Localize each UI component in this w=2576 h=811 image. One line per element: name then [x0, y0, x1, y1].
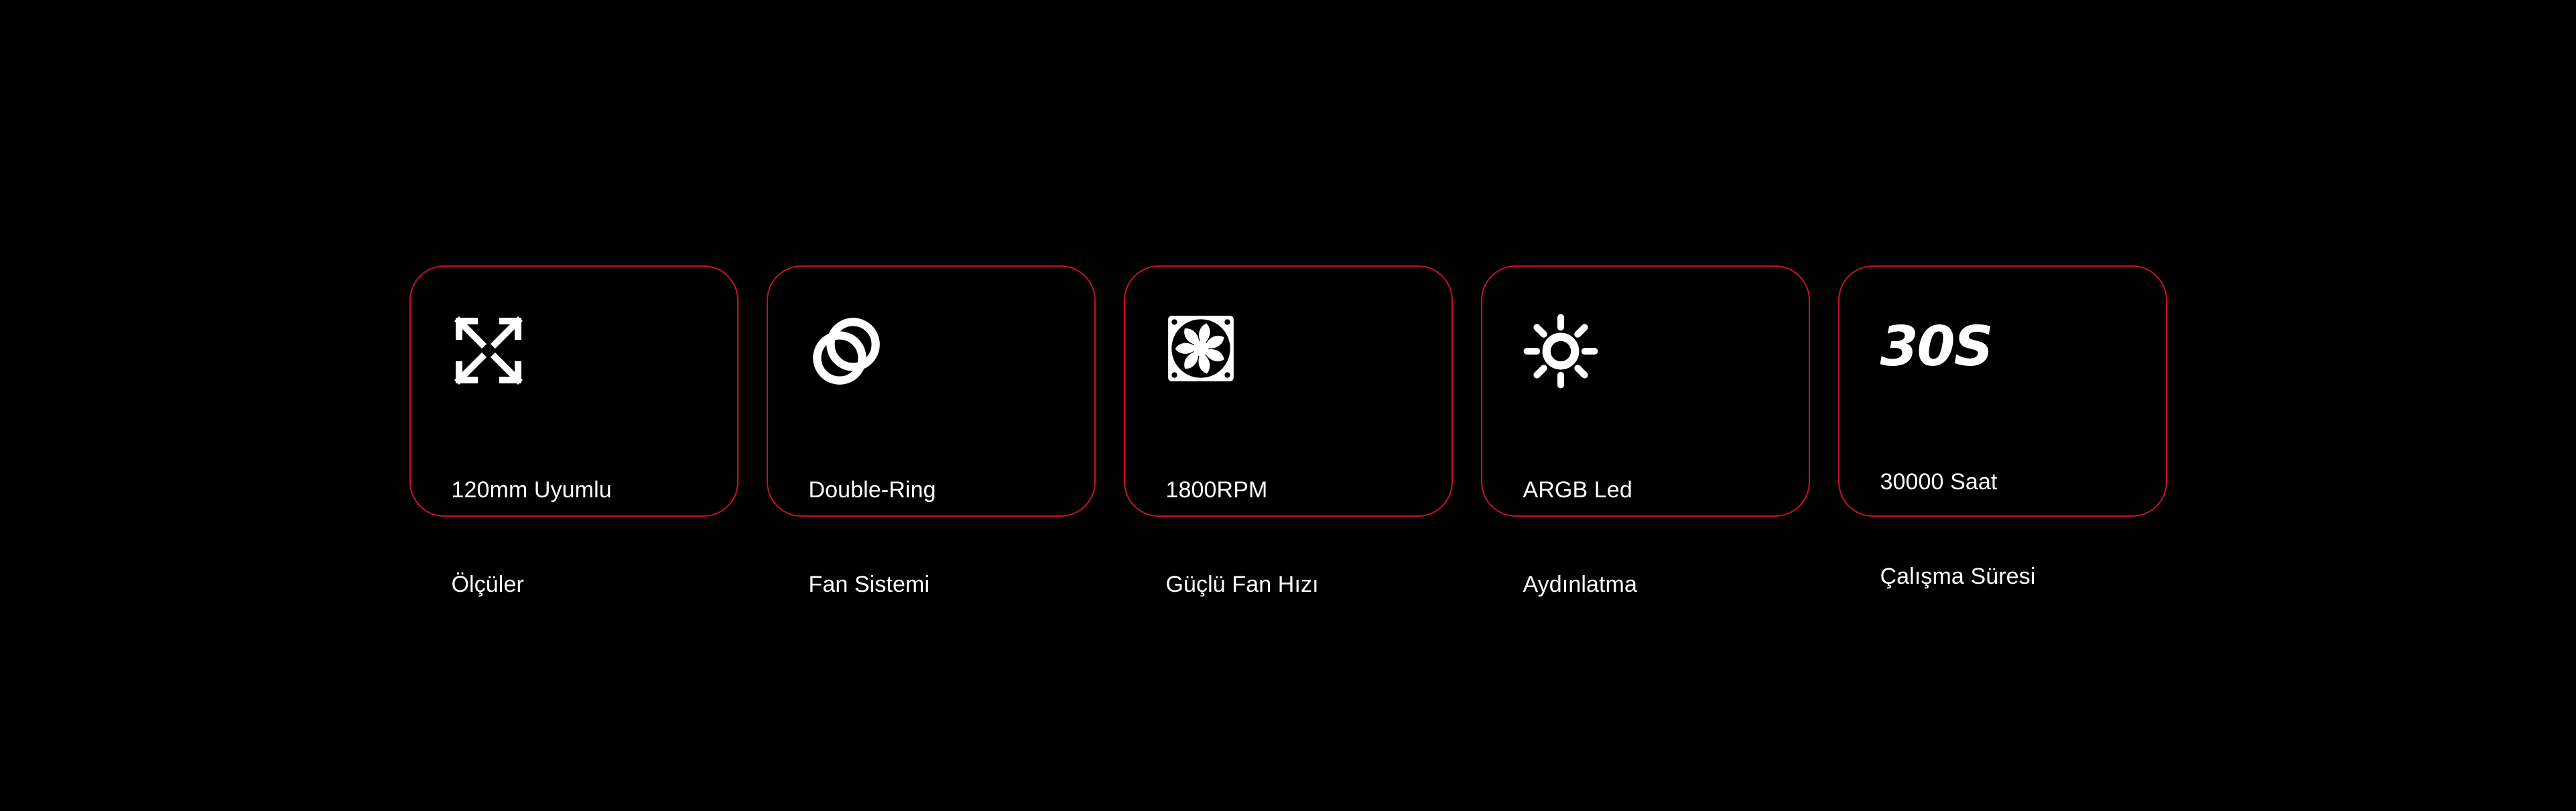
caption-line-2: Güçlü Fan Hızı	[1166, 569, 1452, 601]
feature-card-caption: 30000 Saat Çalışma Süresi	[1880, 403, 2166, 656]
feature-card-caption: 1800RPM Güçlü Fan Hızı	[1166, 412, 1452, 664]
caption-line-1: Double-Ring	[809, 475, 1094, 506]
caption-line-2: Çalışma Süresi	[1880, 561, 2166, 592]
caption-line-1: 120mm Uyumlu	[452, 475, 737, 506]
computer-fan-icon	[1166, 314, 1241, 389]
thirty-s-badge: 30S	[1880, 314, 2166, 381]
feature-card[interactable]: 30S 30000 Saat Çalışma Süresi	[1838, 265, 2167, 517]
feature-card-caption: ARGB Led Aydınlatma	[1523, 412, 1809, 664]
caption-line-1: 30000 Saat	[1880, 466, 2166, 498]
feature-card-caption: Double-Ring Fan Sistemi	[809, 412, 1094, 664]
feature-card[interactable]: Double-Ring Fan Sistemi	[767, 265, 1096, 517]
caption-line-2: Fan Sistemi	[809, 569, 1094, 601]
feature-card[interactable]: ARGB Led Aydınlatma	[1481, 265, 1810, 517]
caption-line-1: ARGB Led	[1523, 475, 1809, 506]
caption-line-2: Ölçüler	[452, 569, 737, 601]
feature-highlight-strip: 120mm Uyumlu Ölçüler Double-Ring Fan Sis…	[0, 0, 2576, 811]
feature-card-caption: 120mm Uyumlu Ölçüler	[452, 412, 737, 664]
caption-line-1: 1800RPM	[1166, 475, 1452, 506]
feature-card[interactable]: 120mm Uyumlu Ölçüler	[409, 265, 738, 517]
double-ring-icon	[809, 314, 884, 389]
feature-card[interactable]: 1800RPM Güçlü Fan Hızı	[1124, 265, 1453, 517]
expand-arrows-icon	[452, 314, 527, 389]
feature-card-list: 120mm Uyumlu Ölçüler Double-Ring Fan Sis…	[409, 265, 2167, 517]
caption-line-2: Aydınlatma	[1523, 569, 1809, 601]
brightness-sun-icon	[1523, 314, 1598, 389]
